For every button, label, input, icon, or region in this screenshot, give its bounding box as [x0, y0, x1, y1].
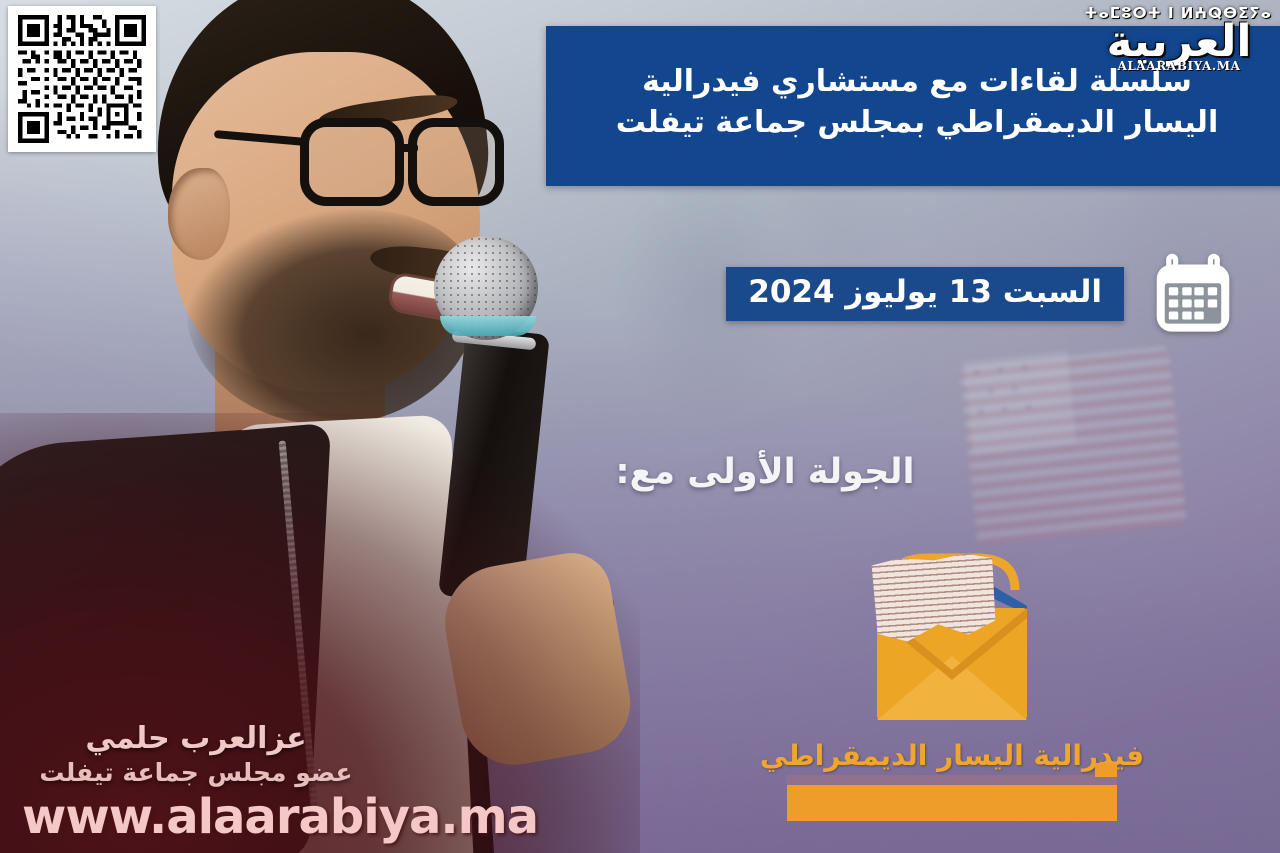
microphone-band [440, 316, 536, 336]
round-label: الجولة الأولى مع: [600, 452, 930, 492]
title-line-2: اليسار الديمقراطي بمجلس جماعة تيفلت [568, 102, 1266, 143]
background-flag-stars [963, 351, 1076, 453]
site-watermark: www.alaarabiya.ma [22, 789, 538, 845]
envelope-icon [837, 552, 1067, 737]
beard [186, 210, 476, 425]
party-logo-bar [787, 775, 1117, 821]
eyeglasses [300, 110, 530, 214]
poster-canvas: ⵜⴰⵎⵓⵔⵜ ⵏ ⵍⵄⵕⴱⵉⵢⴰ العربية ALAARABIYA.MA س… [0, 0, 1280, 853]
alaarabiya-logo: ⵜⴰⵎⵓⵔⵜ ⵏ ⵍⵄⵕⴱⵉⵢⴰ العربية ALAARABIYA.MA [1086, 6, 1272, 72]
logo-arabic-wordmark: العربية [1086, 20, 1272, 64]
party-logo: فيدرالية اليسار الديمقراطي [742, 552, 1162, 842]
date-row: السبت 13 يوليوز 2024 [706, 248, 1236, 340]
glasses-bridge [400, 144, 418, 152]
calendar-icon [1150, 251, 1236, 337]
date-banner: السبت 13 يوليوز 2024 [726, 267, 1124, 321]
qr-code[interactable] [8, 6, 156, 152]
glasses-lens-right [408, 118, 504, 206]
speaker-credit: عزالعرب حلمي عضو مجلس جماعة تيفلت [16, 721, 376, 787]
speaker-name: عزالعرب حلمي [16, 721, 376, 756]
glasses-lens-left [300, 118, 404, 206]
speaker-role: عضو مجلس جماعة تيفلت [16, 758, 376, 787]
